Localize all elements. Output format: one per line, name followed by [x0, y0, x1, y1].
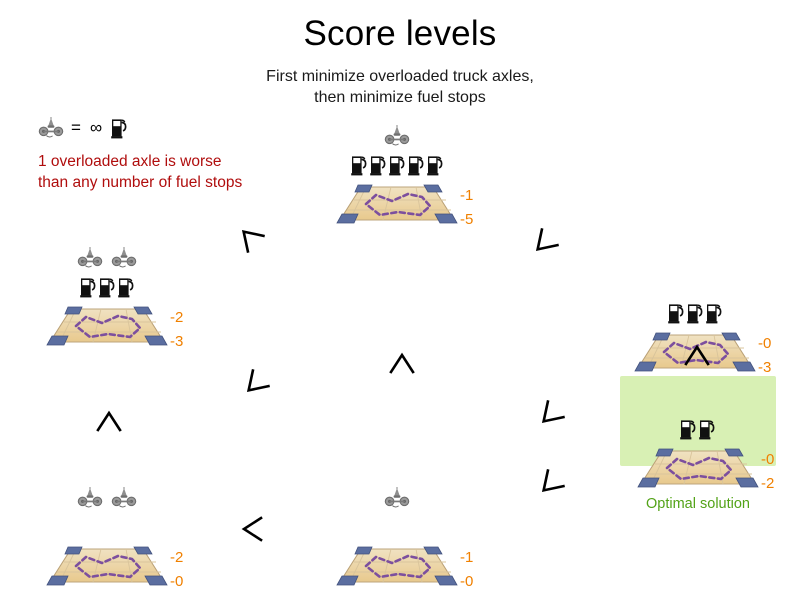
- overloaded-axle-icon: [384, 486, 410, 510]
- overloaded-axle-icon: [38, 116, 64, 140]
- subtitle-line-2: then minimize fuel stops: [0, 87, 800, 108]
- fuel-pump-icon: [687, 302, 704, 324]
- infinity-symbol: ∞: [88, 118, 104, 138]
- overloaded-axle-icon: [77, 246, 103, 270]
- route-map-icon[interactable]: -1 -5: [336, 180, 458, 228]
- score-labels: -1 -0: [460, 546, 473, 594]
- score-labels: -1 -5: [460, 184, 473, 232]
- legend-note-line-2: than any number of fuel stops: [38, 172, 298, 193]
- subtitle-line-1: First minimize overloaded truck axles,: [0, 66, 800, 87]
- equals-sign: =: [71, 118, 81, 138]
- hard-score: -2: [170, 306, 183, 330]
- soft-score: -5: [460, 208, 473, 232]
- fuel-pump-icon: [111, 117, 128, 139]
- solution-node-top-center[interactable]: -1 -5: [336, 122, 458, 228]
- page-subtitle: First minimize overloaded truck axles, t…: [0, 66, 800, 108]
- solution-node-optimal[interactable]: -0 -2 Optimal solution: [620, 376, 776, 512]
- soft-score: -3: [170, 330, 183, 354]
- hard-score: -1: [460, 546, 473, 570]
- route-map-icon[interactable]: -0 -2: [637, 444, 759, 492]
- fuel-pump-icon-row: [46, 272, 168, 298]
- overloaded-axle-icon: [384, 124, 410, 148]
- hard-score: -0: [761, 448, 774, 472]
- soft-score: -0: [170, 570, 183, 594]
- overloaded-axle-icon: [111, 486, 137, 510]
- overloaded-axle-icon: [111, 246, 137, 270]
- fuel-pump-icon-row: [634, 298, 756, 324]
- legend-note-line-1: 1 overloaded axle is worse: [38, 151, 298, 172]
- soft-score: -2: [761, 472, 774, 496]
- fuel-pump-icon: [370, 154, 387, 176]
- fuel-pump-icon: [408, 154, 425, 176]
- solution-node-left[interactable]: -2 -3: [46, 244, 168, 350]
- less-than-operator: [233, 221, 267, 255]
- legend: = ∞ 1 overloaded axle is worse than any …: [38, 114, 298, 193]
- less-than-operator: [527, 226, 561, 260]
- fuel-pump-icon: [99, 276, 116, 298]
- fuel-pump-icon: [699, 418, 716, 440]
- overloaded-axle-icon: [77, 486, 103, 510]
- less-than-operator: [385, 347, 419, 381]
- fuel-pump-icon: [427, 154, 444, 176]
- axle-icon-row: [46, 244, 168, 270]
- fuel-pump-icon: [118, 276, 135, 298]
- solution-node-bottom-left[interactable]: -2 -0: [46, 484, 168, 590]
- fuel-pump-icon: [389, 154, 406, 176]
- less-than-operator: [236, 512, 270, 546]
- score-labels: -2 -0: [170, 546, 183, 594]
- route-map-icon[interactable]: -2 -3: [46, 302, 168, 350]
- less-than-operator: [533, 398, 567, 432]
- axle-icon-row: [46, 484, 168, 510]
- route-map-icon[interactable]: -1 -0: [336, 542, 458, 590]
- less-than-operator: [92, 405, 126, 439]
- score-labels: -0 -2: [761, 448, 774, 496]
- less-than-operator: [533, 467, 567, 501]
- axle-icon-row: [336, 484, 458, 510]
- fuel-pump-icon: [351, 154, 368, 176]
- fuel-pump-icon-row: [336, 150, 458, 176]
- hard-score: -2: [170, 546, 183, 570]
- fuel-pump-icon: [668, 302, 685, 324]
- optimal-solution-label: Optimal solution: [637, 496, 759, 512]
- fuel-pump-icon-row: [637, 414, 759, 440]
- route-map-icon[interactable]: -2 -0: [46, 542, 168, 590]
- score-labels: -0 -3: [758, 332, 771, 380]
- diagram-canvas: Score levels First minimize overloaded t…: [0, 0, 800, 600]
- less-than-operator: [680, 339, 714, 373]
- legend-equation: = ∞: [38, 114, 298, 142]
- legend-note: 1 overloaded axle is worse than any numb…: [38, 151, 298, 193]
- fuel-pump-icon: [706, 302, 723, 324]
- page-title: Score levels: [0, 14, 800, 54]
- axle-icon-row: [336, 122, 458, 148]
- fuel-pump-icon: [80, 276, 97, 298]
- hard-score: -1: [460, 184, 473, 208]
- soft-score: -0: [460, 570, 473, 594]
- score-labels: -2 -3: [170, 306, 183, 354]
- hard-score: -0: [758, 332, 771, 356]
- fuel-pump-icon: [680, 418, 697, 440]
- less-than-operator: [238, 367, 272, 401]
- solution-node-bottom-center[interactable]: -1 -0: [336, 484, 458, 590]
